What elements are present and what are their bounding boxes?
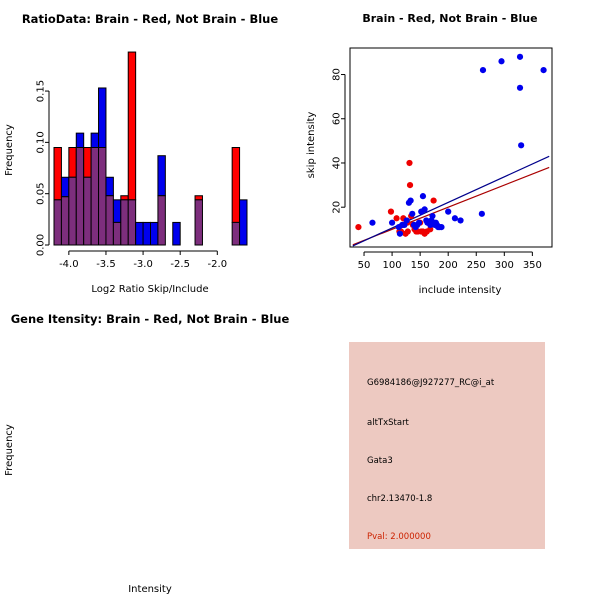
scatter-point bbox=[422, 206, 428, 212]
scatter-point bbox=[518, 142, 524, 148]
x-axis-tick-label: 100 bbox=[383, 260, 402, 271]
scatter-point bbox=[480, 67, 486, 73]
histogram-bar bbox=[128, 52, 135, 200]
histogram-bar bbox=[232, 222, 239, 245]
y-axis-tick-label: 80 bbox=[332, 68, 343, 81]
histogram-bar bbox=[143, 222, 150, 245]
x-axis-tick-label: -3.0 bbox=[133, 259, 153, 270]
histogram-bar bbox=[61, 197, 68, 245]
gene-info-box: G6984186@J927277_RC@i_at altTxStart Gata… bbox=[349, 342, 545, 549]
gene-intensity-panel: Gene Itensity: Brain - Red, Not Brain - … bbox=[0, 300, 300, 600]
scatter-point bbox=[479, 211, 485, 217]
ratio-histogram-bars bbox=[54, 52, 247, 245]
info-event-type: altTxStart bbox=[367, 418, 409, 428]
x-axis-tick-label: 50 bbox=[358, 260, 371, 271]
scatter-point bbox=[517, 85, 523, 91]
histogram-bar bbox=[69, 177, 76, 245]
histogram-bar bbox=[91, 148, 98, 246]
scatter-point bbox=[406, 160, 412, 166]
histogram-bar bbox=[76, 148, 83, 246]
intensity-scatter-svg: 5010015020025030035020406080 include int… bbox=[300, 0, 600, 300]
histogram-bar bbox=[113, 200, 120, 223]
scatter-point bbox=[407, 182, 413, 188]
scatter-point bbox=[408, 197, 414, 203]
scatter-point bbox=[540, 67, 546, 73]
scatter-point bbox=[431, 197, 437, 203]
histogram-bar bbox=[195, 196, 202, 200]
histogram-bar bbox=[121, 200, 128, 245]
scatter-x-axis-label: include intensity bbox=[419, 285, 502, 296]
histogram-bar bbox=[54, 148, 61, 200]
info-gene-symbol: Gata3 bbox=[367, 456, 393, 466]
ratio-histogram-panel: RatioData: Brain - Red, Not Brain - Blue… bbox=[0, 0, 300, 300]
y-axis-tick-label: 20 bbox=[332, 201, 343, 214]
scatter-point bbox=[429, 213, 435, 219]
y-axis-tick-label: 60 bbox=[332, 112, 343, 125]
gene-intensity-svg: 204060800.00.10.20.30.40.50.6 Intensity … bbox=[0, 300, 300, 600]
y-axis-tick-label: 0.05 bbox=[36, 183, 47, 205]
ratio-y-axis-label: Frequency bbox=[4, 124, 15, 176]
histogram-bar bbox=[121, 196, 128, 200]
x-axis-tick-label: -4.0 bbox=[59, 259, 79, 270]
histogram-bar bbox=[99, 88, 106, 148]
scatter-point bbox=[438, 224, 444, 230]
info-probe-id: G6984186@J927277_RC@i_at bbox=[367, 378, 494, 388]
scatter-point bbox=[517, 54, 523, 60]
histogram-bar bbox=[106, 177, 113, 195]
histogram-bar bbox=[69, 148, 76, 178]
ratio-x-axis-label: Log2 Ratio Skip/Include bbox=[91, 284, 208, 295]
scatter-point bbox=[355, 224, 361, 230]
histogram-bar bbox=[54, 200, 61, 245]
scatter-data-points bbox=[355, 54, 546, 237]
info-locus: chr2.13470-1.8 bbox=[367, 494, 432, 504]
x-axis-tick-label: 200 bbox=[439, 260, 458, 271]
histogram-bar bbox=[232, 148, 239, 223]
ratio-histogram-svg: -4.0-3.5-3.0-2.5-2.00.000.050.100.15 Log… bbox=[0, 0, 300, 300]
histogram-bar bbox=[158, 156, 165, 196]
x-axis-tick-label: -2.5 bbox=[170, 259, 190, 270]
histogram-bar bbox=[151, 222, 158, 245]
intensity-scatter-panel: Brain - Red, Not Brain - Blue 5010015020… bbox=[300, 0, 600, 300]
y-axis-tick-label: 40 bbox=[332, 157, 343, 170]
ratio-histogram-title: RatioData: Brain - Red, Not Brain - Blue bbox=[0, 12, 300, 26]
gene-y-axis-label: Frequency bbox=[4, 424, 15, 476]
x-axis-tick-label: 150 bbox=[411, 260, 430, 271]
histogram-bar bbox=[173, 222, 180, 245]
histogram-bar bbox=[76, 133, 83, 147]
histogram-bar bbox=[113, 222, 120, 245]
scatter-point bbox=[369, 220, 375, 226]
histogram-bar bbox=[91, 133, 98, 147]
scatter-point bbox=[445, 209, 451, 215]
gene-x-axis-label: Intensity bbox=[128, 584, 172, 595]
scatter-point bbox=[388, 209, 394, 215]
x-axis-tick-label: 250 bbox=[467, 260, 486, 271]
scatter-point bbox=[409, 211, 415, 217]
scatter-point bbox=[420, 193, 426, 199]
scatter-y-axis-label: skip intensity bbox=[306, 112, 317, 179]
x-axis-tick-label: 300 bbox=[495, 260, 514, 271]
histogram-bar bbox=[99, 148, 106, 246]
scatter-point bbox=[457, 217, 463, 223]
scatter-point bbox=[397, 231, 403, 237]
scatter-point bbox=[416, 220, 422, 226]
scatter-point bbox=[452, 215, 458, 221]
histogram-bar bbox=[195, 200, 202, 245]
y-axis-tick-label: 0.15 bbox=[36, 80, 47, 102]
histogram-bar bbox=[84, 148, 91, 178]
gene-intensity-title: Gene Itensity: Brain - Red, Not Brain - … bbox=[0, 312, 300, 326]
scatter-regression-lines bbox=[353, 156, 549, 246]
scatter-point bbox=[389, 220, 395, 226]
scatter-point bbox=[498, 58, 504, 64]
histogram-bar bbox=[240, 200, 247, 245]
scatter-point bbox=[405, 228, 411, 234]
histogram-bar bbox=[158, 196, 165, 245]
regression-line bbox=[353, 167, 549, 244]
y-axis-tick-label: 0.00 bbox=[36, 234, 47, 256]
histogram-bar bbox=[84, 177, 91, 245]
gene-info-panel: G6984186@J927277_RC@i_at altTxStart Gata… bbox=[300, 300, 600, 600]
histogram-bar bbox=[106, 196, 113, 245]
intensity-scatter-title: Brain - Red, Not Brain - Blue bbox=[300, 12, 600, 25]
histogram-bar bbox=[136, 222, 143, 245]
histogram-bar bbox=[61, 177, 68, 197]
y-axis-tick-label: 0.10 bbox=[36, 131, 47, 153]
scatter-point bbox=[404, 217, 410, 223]
scatter-point bbox=[393, 215, 399, 221]
info-pval: Pval: 2.000000 bbox=[367, 532, 431, 542]
x-axis-tick-label: -2.0 bbox=[208, 259, 228, 270]
x-axis-tick-label: 350 bbox=[523, 260, 542, 271]
histogram-bar bbox=[128, 200, 135, 245]
regression-line bbox=[353, 156, 549, 246]
x-axis-tick-label: -3.5 bbox=[96, 259, 116, 270]
